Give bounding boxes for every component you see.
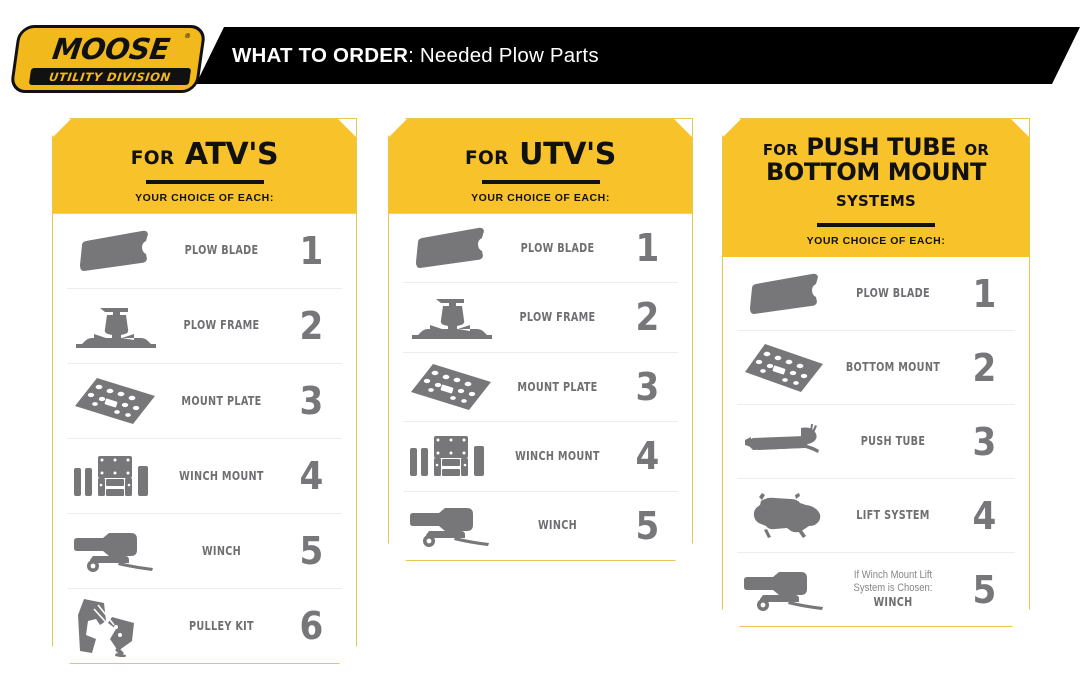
card-push-title-conjunction: OR xyxy=(964,141,989,159)
card-push-title-main: PUSH TUBE xyxy=(806,133,956,161)
page-title: WHAT TO ORDER: Needed Plow Parts xyxy=(232,27,599,84)
list-item-label: PLOW BLADE xyxy=(507,241,608,256)
winch-mount-icon xyxy=(403,422,499,490)
list-item[interactable]: WINCH MOUNT 4 xyxy=(403,421,678,490)
mount-plate-icon xyxy=(403,353,499,421)
list-item-number: 1 xyxy=(956,275,1012,313)
bottom-mount-icon xyxy=(737,331,833,404)
push-tube-icon xyxy=(737,405,833,478)
list-item-label: LIFT SYSTEM xyxy=(841,508,944,523)
registered-trademark-icon: ® xyxy=(184,33,190,40)
list-item-number: 2 xyxy=(956,349,1012,387)
list-item-number: 1 xyxy=(283,232,339,270)
card-push-title-prefix: FOR xyxy=(763,141,798,159)
list-item-label: PLOW BLADE xyxy=(171,243,272,258)
list-item-number: 3 xyxy=(956,423,1012,461)
list-item-label: MOUNT PLATE xyxy=(171,394,272,409)
plow-blade-icon xyxy=(67,214,163,288)
list-item-label: WINCH MOUNT xyxy=(507,449,608,464)
list-item[interactable]: MOUNT PLATE 3 xyxy=(403,352,678,421)
list-item-note: If Winch Mount Lift System is Chosen: xyxy=(841,569,944,595)
list-item-label: WINCH MOUNT xyxy=(171,469,272,484)
list-item-number: 4 xyxy=(283,457,339,495)
list-item-label: PLOW FRAME xyxy=(507,310,608,325)
card-utv: FOR UTV'S YOUR CHOICE OF EACH: PLOW BLAD… xyxy=(388,118,693,561)
list-item[interactable]: MOUNT PLATE 3 xyxy=(67,363,342,438)
list-item[interactable]: PLOW BLADE 1 xyxy=(737,257,1015,330)
winch-icon xyxy=(403,492,499,560)
plow-blade-icon xyxy=(737,257,833,330)
list-item-label: PUSH TUBE xyxy=(841,434,944,449)
plow-blade-icon xyxy=(403,214,499,282)
card-utv-title-main: UTV'S xyxy=(519,137,616,172)
winch-icon xyxy=(67,514,163,588)
list-item-number: 1 xyxy=(619,229,675,267)
winch-mount-icon xyxy=(67,439,163,513)
card-atv-title-prefix: FOR xyxy=(131,148,175,169)
list-item-number: 5 xyxy=(619,507,675,545)
card-utv-title: FOR UTV'S xyxy=(389,119,692,171)
list-item-number: 4 xyxy=(619,437,675,475)
card-atv-title-main: ATV'S xyxy=(185,137,278,172)
card-utv-header: FOR UTV'S YOUR CHOICE OF EACH: xyxy=(389,119,692,214)
list-item[interactable]: PLOW BLADE 1 xyxy=(403,214,678,282)
mount-plate-icon xyxy=(67,364,163,438)
list-item[interactable]: LIFT SYSTEM 4 xyxy=(737,478,1015,552)
title-divider xyxy=(482,180,600,184)
list-item[interactable]: PLOW FRAME 2 xyxy=(403,282,678,351)
list-item-label: If Winch Mount Lift System is Chosen: WI… xyxy=(841,569,944,610)
list-item[interactable]: WINCH MOUNT 4 xyxy=(67,438,342,513)
list-item-number: 6 xyxy=(283,607,339,645)
list-item-label-text: WINCH xyxy=(873,594,912,609)
list-item-label: PULLEY KIT xyxy=(171,619,272,634)
list-item-number: 5 xyxy=(956,571,1012,609)
list-item[interactable]: PLOW BLADE 1 xyxy=(67,214,342,288)
card-push-title: FOR PUSH TUBE OR BOTTOM MOUNT SYSTEMS xyxy=(723,119,1029,211)
list-item-number: 3 xyxy=(283,382,339,420)
list-item[interactable]: PUSH TUBE 3 xyxy=(737,404,1015,478)
card-push-header: FOR PUSH TUBE OR BOTTOM MOUNT SYSTEMS YO… xyxy=(723,119,1029,257)
title-divider xyxy=(817,223,935,227)
logo-tagline: UTILITY DIVISION xyxy=(48,70,172,84)
card-atv-title: FOR ATV'S xyxy=(53,119,356,171)
page-title-bold: WHAT TO ORDER xyxy=(232,44,408,68)
page-title-light: : Needed Plow Parts xyxy=(408,44,599,68)
list-item-label: WINCH xyxy=(171,544,272,559)
title-divider xyxy=(146,180,264,184)
list-item-label: WINCH xyxy=(507,518,608,533)
card-push-rows: PLOW BLADE 1 xyxy=(723,257,1029,626)
card-atv: FOR ATV'S YOUR CHOICE OF EACH: PLOW BLAD… xyxy=(52,118,357,664)
card-push-title-suffix: SYSTEMS xyxy=(836,192,916,210)
card-atv-rows: PLOW BLADE 1 PLOW FRAME 2 xyxy=(53,214,356,663)
list-item-number: 3 xyxy=(619,368,675,406)
card-push-subtitle: YOUR CHOICE OF EACH: xyxy=(723,235,1029,257)
card-utv-subtitle: YOUR CHOICE OF EACH: xyxy=(389,192,692,214)
list-item-number: 5 xyxy=(283,532,339,570)
card-atv-subtitle: YOUR CHOICE OF EACH: xyxy=(53,192,356,214)
list-item[interactable]: PULLEY KIT 6 xyxy=(67,588,342,663)
logo-tagline-bar: UTILITY DIVISION xyxy=(29,68,191,85)
card-utv-title-prefix: FOR xyxy=(465,148,509,169)
list-item[interactable]: WINCH 5 xyxy=(67,513,342,588)
pulley-kit-icon xyxy=(67,589,163,663)
card-utv-rows: PLOW BLADE 1 PLOW FRAME 2 xyxy=(389,214,692,560)
list-item-number: 2 xyxy=(283,307,339,345)
list-item-label: MOUNT PLATE xyxy=(507,380,608,395)
list-item[interactable]: WINCH 5 xyxy=(403,491,678,560)
list-item[interactable]: PLOW FRAME 2 xyxy=(67,288,342,363)
list-item-number: 4 xyxy=(956,497,1012,535)
winch-icon xyxy=(737,553,833,626)
logo-wordmark: MOOSE xyxy=(33,31,188,67)
card-atv-header: FOR ATV'S YOUR CHOICE OF EACH: xyxy=(53,119,356,214)
page-header: MOOSE ® UTILITY DIVISION WHAT TO ORDER: … xyxy=(0,0,1080,104)
list-item-number: 2 xyxy=(619,298,675,336)
list-item-label: PLOW BLADE xyxy=(841,286,944,301)
lift-system-icon xyxy=(737,479,833,552)
plow-frame-icon xyxy=(403,283,499,351)
moose-utility-division-logo: MOOSE ® UTILITY DIVISION xyxy=(14,25,202,93)
card-push-tube-bottom-mount: FOR PUSH TUBE OR BOTTOM MOUNT SYSTEMS YO… xyxy=(722,118,1030,627)
plow-frame-icon xyxy=(67,289,163,363)
list-item[interactable]: If Winch Mount Lift System is Chosen: WI… xyxy=(737,552,1015,626)
list-item-label: BOTTOM MOUNT xyxy=(841,360,944,375)
list-item-label: PLOW FRAME xyxy=(171,318,272,333)
card-push-title-main2: BOTTOM MOUNT xyxy=(766,158,986,186)
list-item[interactable]: BOTTOM MOUNT 2 xyxy=(737,330,1015,404)
